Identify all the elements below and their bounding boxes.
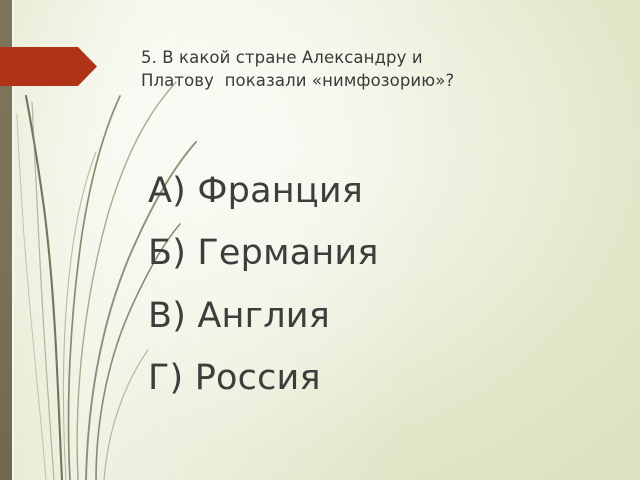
answer-option-a[interactable]: А) Франция — [148, 160, 608, 222]
answer-option-d[interactable]: Г) Россия — [148, 347, 608, 409]
answer-option-c[interactable]: В) Англия — [148, 285, 608, 347]
question-text: 5. В какой стране Александру и Платову п… — [141, 46, 611, 93]
slide-canvas: 5. В какой стране Александру и Платову п… — [0, 0, 640, 480]
answer-options-list: А) Франция Б) Германия В) Англия Г) Росс… — [148, 160, 608, 409]
arrow-banner-shape — [0, 47, 97, 86]
answer-option-b[interactable]: Б) Германия — [148, 222, 608, 284]
